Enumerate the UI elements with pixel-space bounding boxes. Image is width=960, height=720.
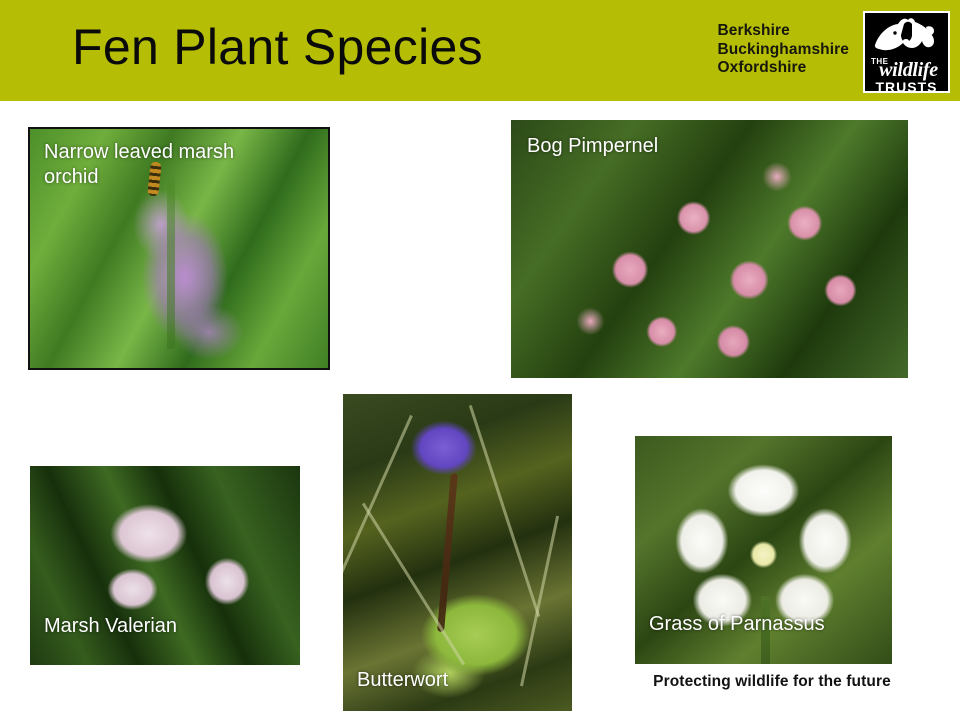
photo-caption-orchid: Narrow leaved marsh orchid [44,140,234,190]
orchid-stem-decoration [167,177,175,349]
photo-caption-butterwort: Butterwort [357,668,448,693]
photo-caption-parnassus: Grass of Parnassus [649,612,825,637]
brand-logo-block: Berkshire Buckinghamshire Oxfordshire TH… [717,11,950,93]
photo-narrow-leaved-marsh-orchid: Narrow leaved marsh orchid [28,127,330,370]
grass-blade-decoration [520,516,559,687]
photo-bog-pimpernel: Bog Pimpernel [511,120,908,378]
badger-icon [871,15,941,55]
grass-blade-decoration [469,405,540,617]
brand-counties-text: Berkshire Buckinghamshire Oxfordshire [717,22,849,82]
photo-butterwort: Butterwort [343,394,572,711]
butterwort-stalk-decoration [437,473,458,632]
page-title: Fen Plant Species [72,17,483,77]
photo-grass-of-parnassus: Grass of Parnassus [635,436,892,664]
logo-trusts-text: TRUSTS [865,79,948,93]
county-line-buckinghamshire: Buckinghamshire [717,41,849,60]
county-line-berkshire: Berkshire [717,22,849,41]
county-line-oxfordshire: Oxfordshire [717,59,849,78]
photo-caption-pimpernel: Bog Pimpernel [527,134,658,159]
brand-tagline: Protecting wildlife for the future [635,673,909,691]
photo-marsh-valerian: Marsh Valerian [30,466,300,665]
title-header-band: Fen Plant Species Berkshire Buckinghamsh… [0,0,960,101]
photo-caption-valerian: Marsh Valerian [44,614,177,639]
wildlife-trusts-logo: THE wildlife TRUSTS [863,11,950,93]
